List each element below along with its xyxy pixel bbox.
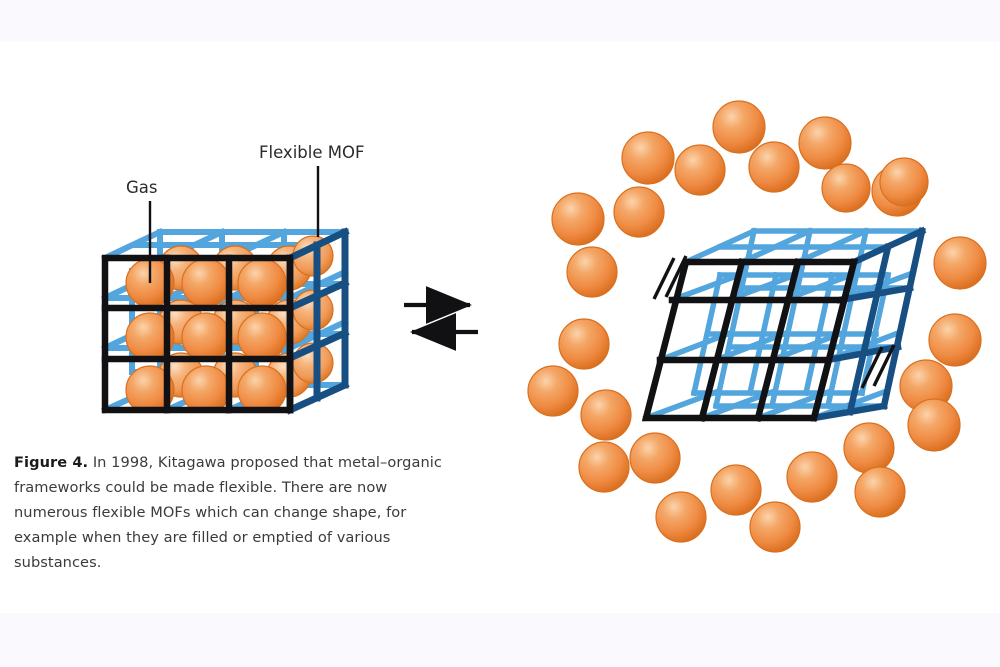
gas-sphere — [656, 492, 706, 542]
gas-sphere — [581, 390, 631, 440]
figure-caption-prefix: Figure 4. — [14, 454, 88, 471]
gas-sphere — [630, 433, 680, 483]
gas-sphere — [934, 237, 986, 289]
gas-sphere — [528, 366, 578, 416]
gas-sphere — [182, 313, 230, 361]
gas-sphere — [844, 423, 894, 473]
gas-sphere — [238, 313, 286, 361]
gas-sphere — [880, 158, 928, 206]
gas-sphere — [929, 314, 981, 366]
gas-sphere-group-right — [528, 101, 986, 552]
left-panel-filled-mof — [105, 166, 345, 414]
figure-caption: Figure 4. In 1998, Kitagawa proposed tha… — [14, 450, 464, 575]
gas-sphere — [799, 117, 851, 169]
gas-sphere — [567, 247, 617, 297]
gas-sphere — [822, 164, 870, 212]
gas-sphere — [711, 465, 761, 515]
gas-sphere — [787, 452, 837, 502]
gas-sphere — [614, 187, 664, 237]
gas-sphere — [182, 259, 230, 307]
right-panel-collapsed-mof — [528, 101, 986, 552]
figure-root: Gas Flexible MOF Figure 4. In 1998, Kita… — [0, 0, 1000, 667]
label-flexible-mof: Flexible MOF — [259, 143, 364, 162]
figure-caption-body: In 1998, Kitagawa proposed that metal–or… — [14, 454, 442, 571]
gas-sphere — [559, 319, 609, 369]
gas-sphere — [750, 502, 800, 552]
motion-line-upper-1 — [654, 258, 674, 299]
label-gas: Gas — [126, 178, 158, 197]
gas-sphere — [713, 101, 765, 153]
gas-sphere — [855, 467, 905, 517]
gas-sphere — [552, 193, 604, 245]
gas-sphere — [622, 132, 674, 184]
gas-sphere — [675, 145, 725, 195]
gas-sphere — [579, 442, 629, 492]
reversible-reaction-arrows — [404, 305, 478, 332]
gas-sphere — [238, 259, 286, 307]
gas-sphere — [749, 142, 799, 192]
gas-sphere — [908, 399, 960, 451]
